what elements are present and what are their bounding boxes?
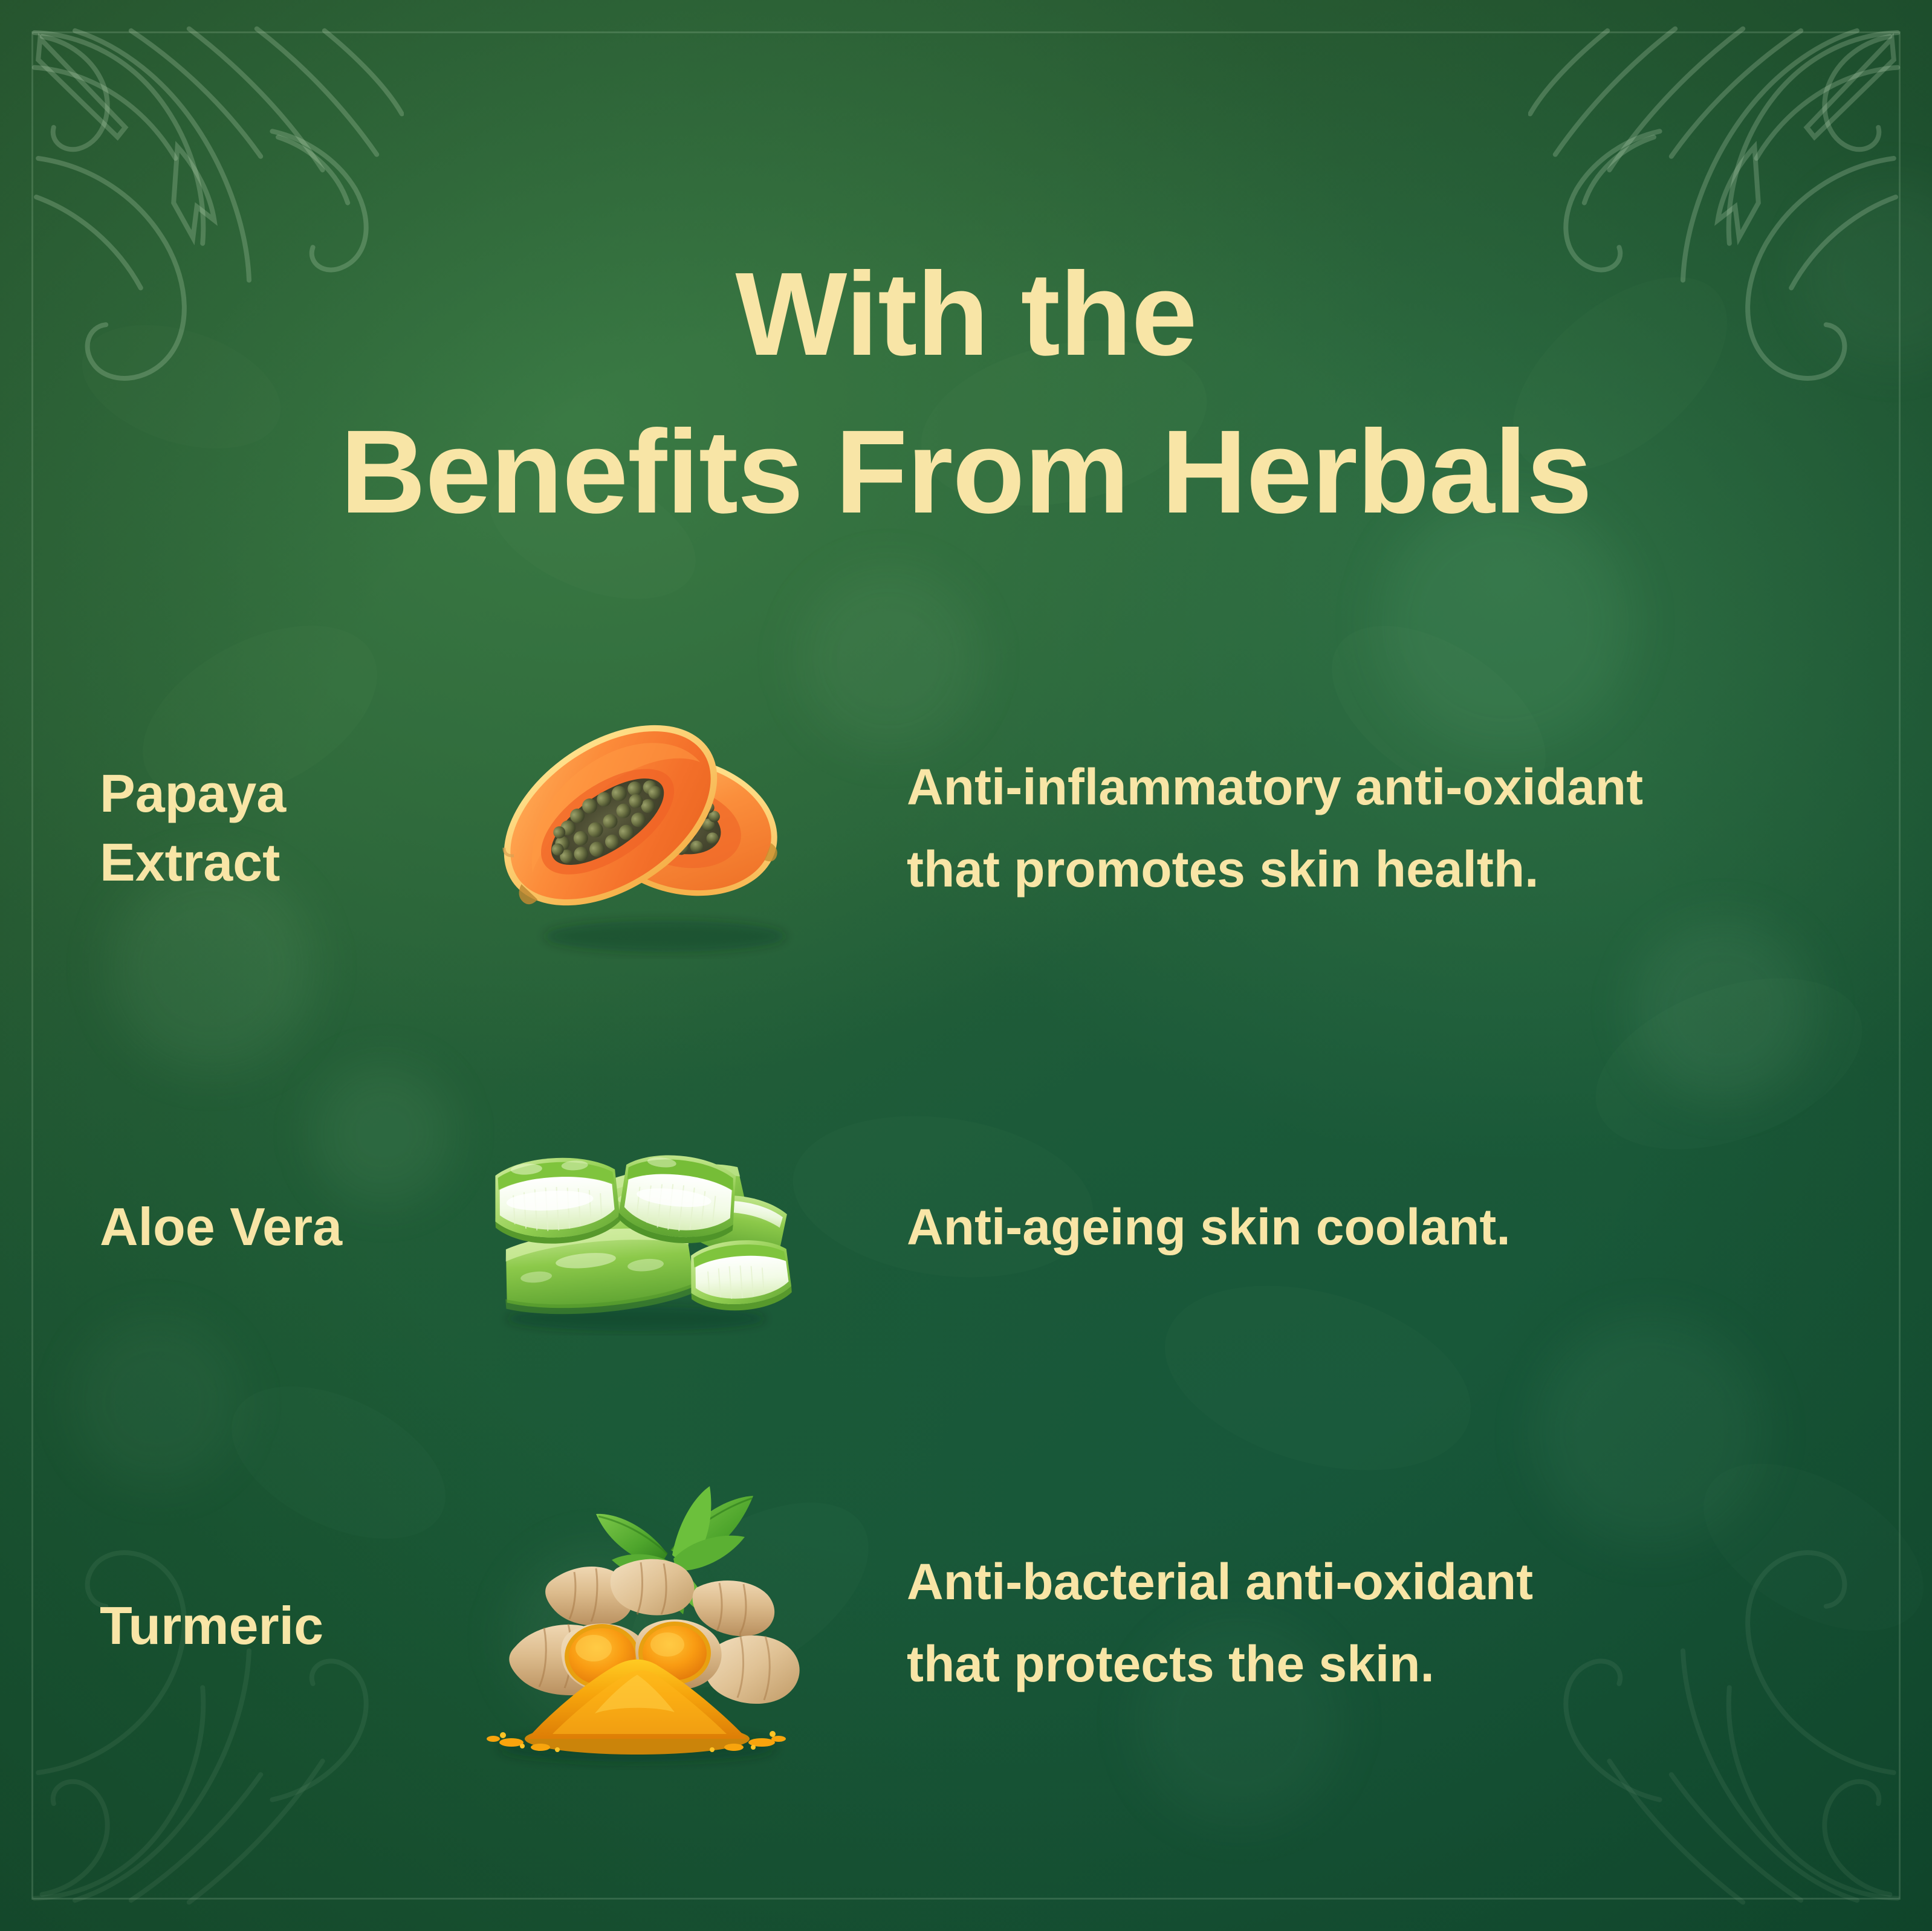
ingredient-description-aloe-vera: Anti-ageing skin coolant.	[907, 1186, 1932, 1268]
ingredient-description-papaya: Anti-inflammatory anti-oxidant that prom…	[907, 746, 1932, 910]
ingredient-label-line-1: Papaya	[100, 759, 375, 828]
herbal-benefits-poster: With the Benefits From Herbals Papaya Ex…	[0, 0, 1932, 1931]
ingredient-row-aloe-vera: Aloe Vera	[0, 1046, 1932, 1408]
description-line-1: Anti-bacterial anti-oxidant	[907, 1541, 1841, 1623]
description-line-2: that protects the skin.	[907, 1623, 1841, 1705]
title-line-1: With the	[735, 248, 1196, 380]
ingredient-label-aloe-vera: Aloe Vera	[0, 1192, 375, 1261]
description-line-1: Anti-ageing skin coolant.	[907, 1186, 1841, 1268]
description-line-1: Anti-inflammatory anti-oxidant	[907, 746, 1841, 828]
ingredient-label-turmeric: Turmeric	[0, 1591, 375, 1660]
description-line-2: that promotes skin health.	[907, 828, 1841, 910]
title-line-2: Benefits From Herbals	[91, 393, 1841, 551]
ingredient-label-line-2: Extract	[100, 828, 375, 897]
ingredient-image-aloe-vera	[375, 1046, 907, 1408]
ingredient-label-line-1: Turmeric	[100, 1591, 375, 1660]
ingredient-row-turmeric: Turmeric	[0, 1408, 1932, 1843]
ingredient-label-line-1: Aloe Vera	[100, 1192, 375, 1261]
ingredient-description-turmeric: Anti-bacterial anti-oxidant that protect…	[907, 1541, 1932, 1711]
ingredient-row-papaya: Papaya Extract	[0, 610, 1932, 1046]
ingredients-list: Papaya Extract	[0, 610, 1932, 1843]
ingredient-label-papaya: Papaya Extract	[0, 759, 375, 898]
ingredient-image-turmeric	[375, 1408, 907, 1843]
poster-title: With the Benefits From Herbals	[0, 236, 1932, 551]
ingredient-image-papaya	[375, 610, 907, 1046]
